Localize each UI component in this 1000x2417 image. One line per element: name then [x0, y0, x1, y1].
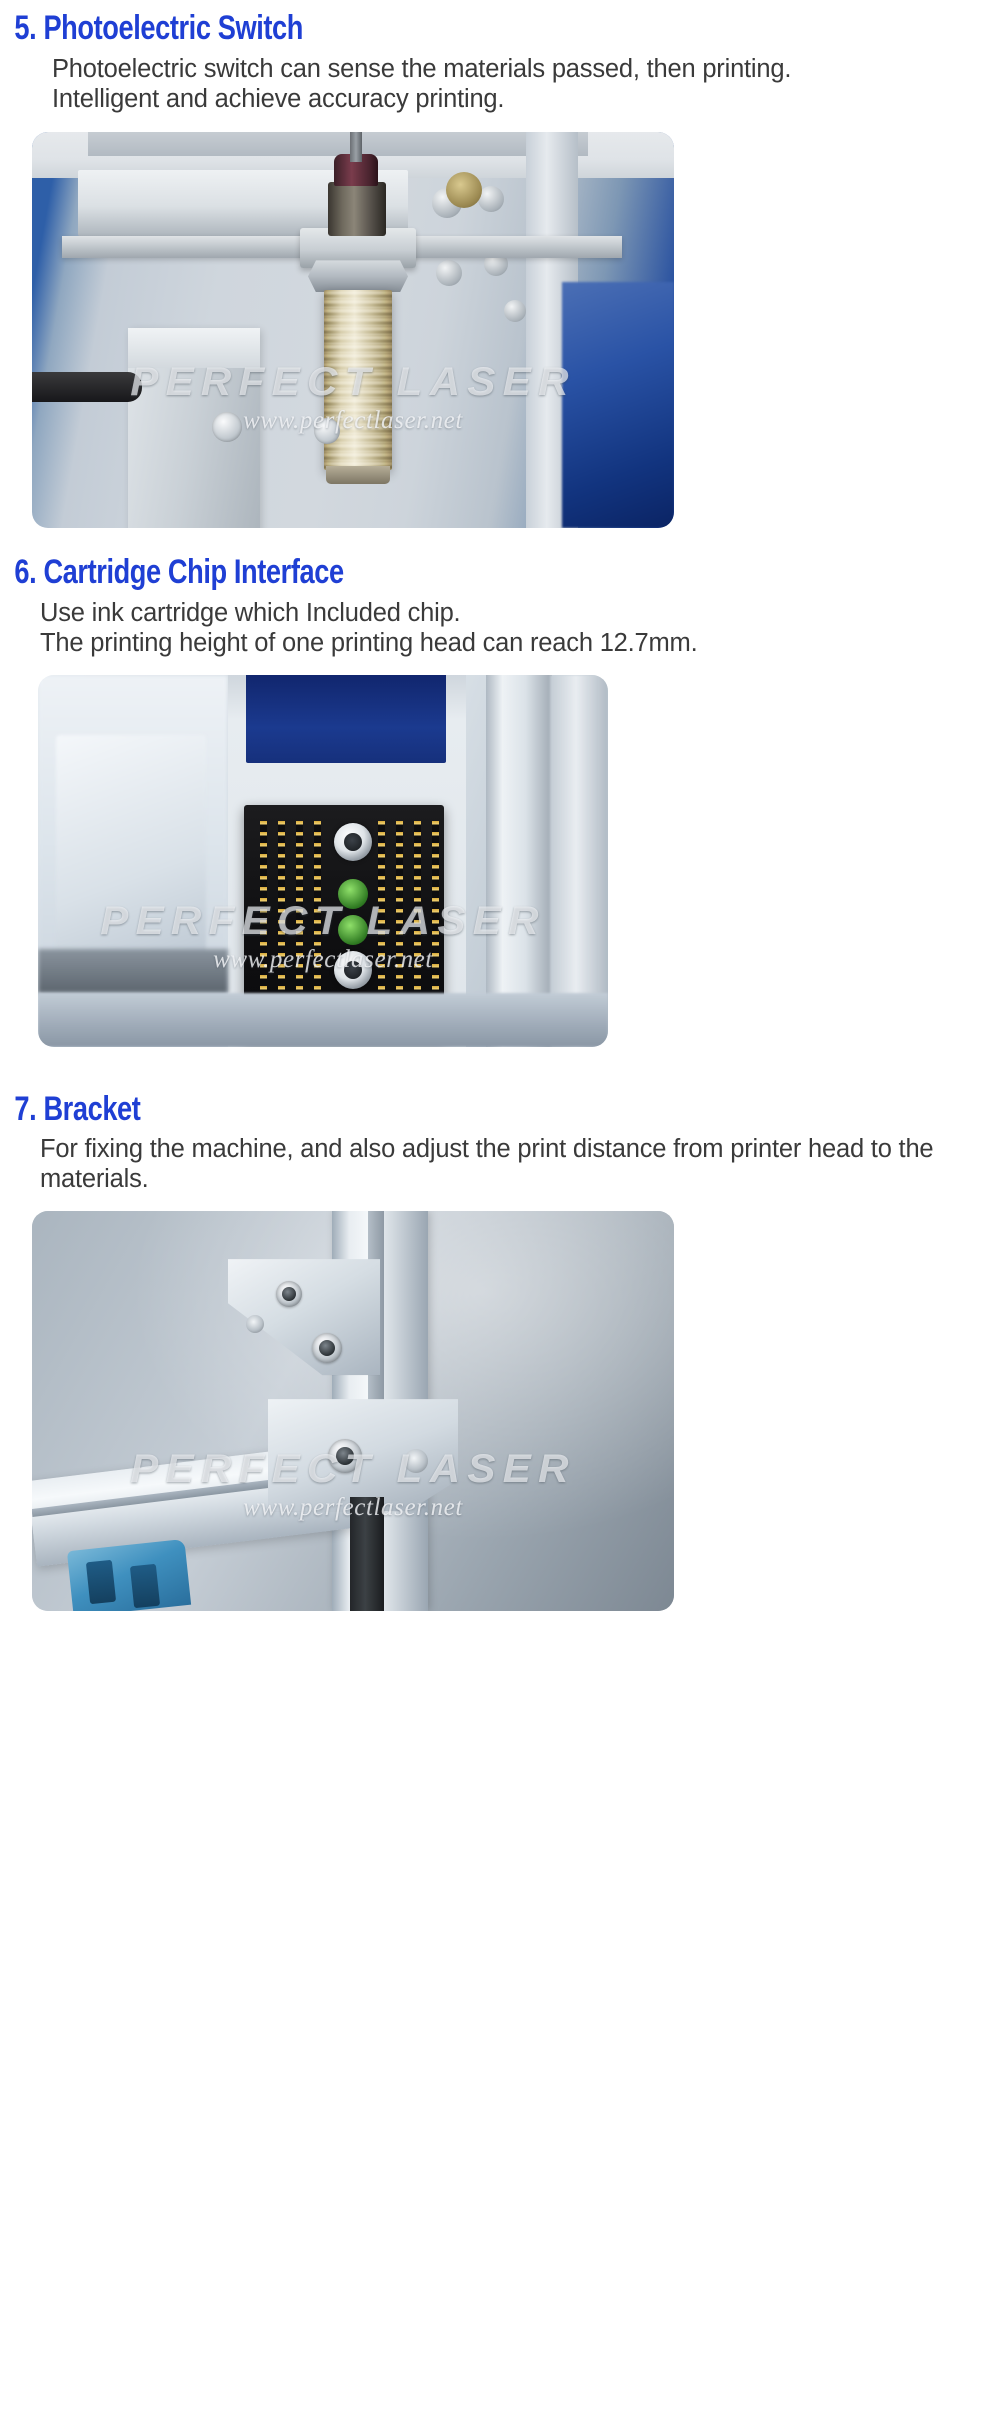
machine-bottom-shelf: [38, 993, 608, 1047]
section-heading-6: 6. Cartridge Chip Interface: [0, 554, 800, 591]
section-heading-5: 5. Photoelectric Switch: [0, 10, 800, 47]
green-indicator: [338, 915, 368, 945]
machine-left-arm-top: [128, 328, 260, 368]
gold-contact-column: [296, 821, 303, 1021]
bracket-hole: [246, 1315, 264, 1333]
alignment-ring-lower-hole: [344, 961, 362, 979]
section-photoelectric-switch: 5. Photoelectric Switch Photoelectric sw…: [0, 0, 1000, 528]
section-heading-7: 7. Bracket: [0, 1091, 800, 1128]
photo-bracket: PERFECT LASER www.perfectlaser.net: [32, 1211, 674, 1611]
gold-contact-column: [378, 821, 385, 1021]
sensor-lock-nut: [308, 260, 408, 292]
sensor-upper-body: [328, 182, 386, 236]
alignment-ring-upper-hole: [344, 833, 362, 851]
gold-contact-column: [396, 821, 403, 1021]
blue-clip-slot: [86, 1560, 116, 1604]
section-cartridge-chip-interface: 6. Cartridge Chip Interface Use ink cart…: [0, 554, 1000, 1046]
gold-contact-column: [314, 821, 321, 1021]
machine-side-panel: [56, 735, 206, 965]
gold-contact-column: [278, 821, 285, 1021]
mount-hole: [436, 260, 462, 286]
gold-contact-column: [414, 821, 421, 1021]
section-body-7: For fixing the machine, and also adjust …: [0, 1135, 1000, 1195]
black-guide-rod: [350, 1497, 384, 1611]
photo-cartridge-chip: PERFECT LASER www.perfectlaser.net: [38, 675, 608, 1047]
section-body-5: Photoelectric switch can sense the mater…: [0, 55, 1000, 115]
sensor-threaded-barrel: [324, 290, 392, 470]
gold-contact-column: [260, 821, 267, 1021]
background-dark-strip: [38, 949, 228, 993]
bracket-corner-lower: [268, 1399, 458, 1511]
blue-clip-slot: [130, 1564, 160, 1608]
cartridge-blue-label: [246, 675, 446, 763]
blue-plastic-clip: [67, 1539, 191, 1611]
section-bracket: 7. Bracket For fixing the machine, and a…: [0, 1091, 1000, 1611]
photo-photoelectric-switch: PERFECT LASER www.perfectlaser.net: [32, 132, 674, 528]
section-body-6: Use ink cartridge which Included chip. T…: [0, 599, 1000, 659]
green-indicator: [338, 879, 368, 909]
mount-hole: [504, 300, 526, 322]
sensor-cable: [350, 132, 362, 162]
black-cable: [32, 372, 142, 402]
machine-top-bar-shadow: [88, 132, 588, 156]
bolt-socket: [336, 1447, 354, 1465]
gold-contact-column: [432, 821, 439, 1021]
product-feature-page: 5. Photoelectric Switch Photoelectric sw…: [0, 0, 1000, 2417]
sensor-tip: [326, 466, 390, 484]
brass-fitting: [446, 172, 482, 208]
bracket-hole: [404, 1449, 428, 1473]
blue-machine-body: [562, 282, 674, 528]
machine-right-edge: [550, 675, 608, 1047]
machine-right-post: [486, 675, 552, 1047]
bolt-socket: [319, 1340, 335, 1356]
